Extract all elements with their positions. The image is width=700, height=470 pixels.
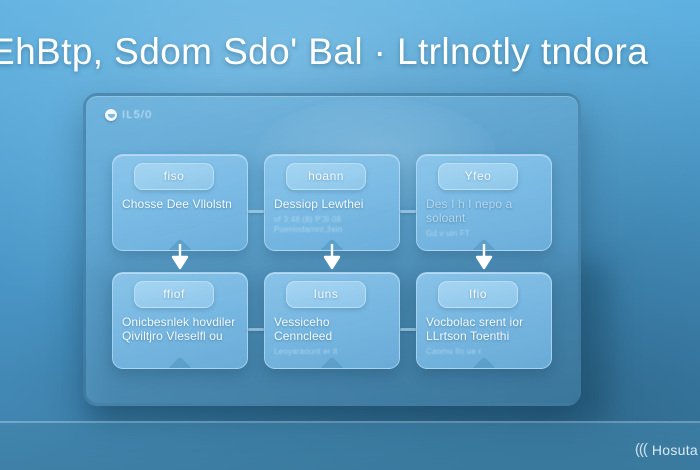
flow-card-4-badge: ffiof	[134, 281, 214, 308]
flow-card-3-subtitle: Gd v uin FT	[426, 229, 542, 239]
flow-card-1-notch	[168, 238, 192, 251]
flow-card-3-badge: Yfeo	[438, 163, 518, 190]
flow-card-4[interactable]: ffiof Onicbesnlek hovdiler Qiviltjro Vle…	[112, 272, 248, 369]
horizontal-link-icon	[248, 210, 264, 213]
flow-card-2-notch	[320, 238, 344, 251]
flow-card-1-title: Chosse Dee Vllolstn	[122, 197, 238, 211]
flow-card-5-badge: Iuns	[286, 281, 366, 308]
flow-card-4-title: Onicbesnlek hovdiler Qiviltjro Vleselfl …	[122, 315, 238, 343]
flow-card-2-badge: hoann	[286, 163, 366, 190]
panel-header-label: IL5/0	[122, 109, 152, 121]
flow-card-2-title: Dessiop Lewthei	[274, 197, 390, 211]
flow-card-6-notch	[472, 356, 496, 369]
page-title-bar: EhBtp, Sdom Sdo' Bal · Ltrlnotly tndora	[0, 26, 700, 78]
page-title: EhBtp, Sdom Sdo' Bal · Ltrlnotly tndora	[0, 31, 648, 73]
flow-card-1[interactable]: fiso Chosse Dee Vllolstn	[112, 154, 248, 251]
flow-card-5-title: Vessiceho Cenncleed	[274, 315, 390, 343]
horizontal-link-icon	[400, 210, 416, 213]
flow-card-6[interactable]: Ifio Vocbolac srent ior LLrtson Toenthi …	[416, 272, 552, 369]
chevrons-left-icon: (((	[635, 441, 647, 458]
flow-card-6-badge: Ifio	[438, 281, 518, 308]
flow-card-5-notch	[320, 356, 344, 369]
horizontal-link-icon	[248, 328, 264, 331]
flow-card-3[interactable]: Yfeo Des I h I nepo a soloant Gd v uin F…	[416, 154, 552, 251]
main-panel: IL5/0 fiso Chosse Dee Vllolstn hoann Des…	[83, 93, 581, 406]
card-grid: fiso Chosse Dee Vllolstn hoann Dessiop L…	[112, 154, 552, 369]
footer-mark: ((( Hosuta	[635, 441, 700, 458]
screenshot-canvas: EhBtp, Sdom Sdo' Bal · Ltrlnotly tndora …	[0, 0, 700, 470]
flow-card-5-subtitle: Leoyaraount er it	[274, 347, 390, 357]
flow-card-1-badge: fiso	[134, 163, 214, 190]
flow-card-5[interactable]: Iuns Vessiceho Cenncleed Leoyaraount er …	[264, 272, 400, 369]
flow-card-2-subtitle: of 3:48 (8) P'3I 08 Poeniodarnnt,3ein	[274, 215, 390, 235]
flow-card-4-notch	[168, 356, 192, 369]
flow-card-2[interactable]: hoann Dessiop Lewthei of 3:48 (8) P'3I 0…	[264, 154, 400, 251]
flow-card-6-title: Vocbolac srent ior LLrtson Toenthi	[426, 315, 542, 343]
circle-badge-icon	[105, 109, 117, 121]
footer-label: Hosuta	[652, 442, 698, 458]
flow-card-6-subtitle: Caomu Ilo ue r	[426, 347, 542, 357]
flow-card-3-title: Des I h I nepo a soloant	[426, 197, 542, 225]
horizontal-link-icon	[400, 328, 416, 331]
flow-card-3-notch	[472, 238, 496, 251]
bottom-band	[0, 423, 700, 470]
panel-header: IL5/0	[105, 109, 152, 121]
